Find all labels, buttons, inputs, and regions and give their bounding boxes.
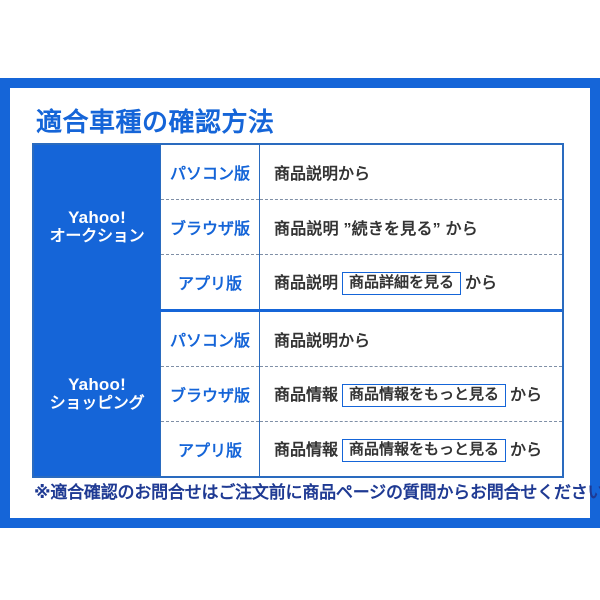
table-row: Yahoo! ショッピング パソコン版 商品説明から bbox=[34, 311, 562, 367]
instruction-cell: 商品説明から bbox=[260, 145, 563, 200]
instruction-cell: 商品説明から bbox=[260, 311, 563, 367]
panel-body: 適合車種の確認方法 Yahoo! オークション パソコン版 商品説明から bbox=[10, 88, 590, 518]
brand-name-line2: オークション bbox=[34, 228, 160, 247]
instruction-prefix: 商品説明 bbox=[274, 275, 338, 292]
instruction-cell: 商品説明 ”続きを見る” から bbox=[260, 200, 563, 255]
version-label-pc: パソコン版 bbox=[161, 145, 260, 200]
footnote-text: ※適合確認のお問合せはご注文前に商品ページの質問からお問合せください。 bbox=[34, 478, 600, 503]
brand-name-line1: Yahoo! bbox=[34, 375, 160, 395]
version-label-pc: パソコン版 bbox=[161, 311, 260, 367]
screenshot-canvas: 適合車種の確認方法 Yahoo! オークション パソコン版 商品説明から bbox=[0, 0, 600, 600]
blue-frame: 適合車種の確認方法 Yahoo! オークション パソコン版 商品説明から bbox=[0, 78, 600, 528]
instruction-prefix: 商品説明から bbox=[274, 333, 370, 350]
brand-name-line2: ショッピング bbox=[34, 395, 160, 414]
instruction-cell: 商品情報商品情報をもっと見るから bbox=[260, 422, 563, 477]
brand-cell-auction: Yahoo! オークション bbox=[34, 145, 161, 311]
instruction-prefix: 商品説明から bbox=[274, 166, 370, 183]
table-row: Yahoo! オークション パソコン版 商品説明から bbox=[34, 145, 562, 200]
page-title: 適合車種の確認方法 bbox=[36, 102, 275, 139]
instruction-cell: 商品説明商品詳細を見るから bbox=[260, 255, 563, 311]
instruction-suffix: から bbox=[510, 442, 542, 459]
version-label-browser: ブラウザ版 bbox=[161, 367, 260, 422]
brand-name-line1: Yahoo! bbox=[34, 208, 160, 228]
instruction-cell: 商品情報商品情報をもっと見るから bbox=[260, 367, 563, 422]
version-label-app: アプリ版 bbox=[161, 422, 260, 477]
brand-cell-shopping: Yahoo! ショッピング bbox=[34, 311, 161, 477]
ui-button-reference: 商品情報をもっと見る bbox=[342, 439, 506, 463]
instruction-prefix: 商品情報 bbox=[274, 387, 338, 404]
compatibility-table: Yahoo! オークション パソコン版 商品説明から ブラウザ版 商品説明 bbox=[32, 143, 564, 478]
ui-button-reference: 商品情報をもっと見る bbox=[342, 384, 506, 408]
version-label-browser: ブラウザ版 bbox=[161, 200, 260, 255]
instruction-prefix: 商品情報 bbox=[274, 442, 338, 459]
version-label-app: アプリ版 bbox=[161, 255, 260, 311]
ui-button-reference: 商品詳細を見る bbox=[342, 272, 461, 296]
instruction-prefix: 商品説明 ”続きを見る” から bbox=[274, 221, 478, 238]
instruction-suffix: から bbox=[465, 275, 497, 292]
instruction-suffix: から bbox=[510, 387, 542, 404]
